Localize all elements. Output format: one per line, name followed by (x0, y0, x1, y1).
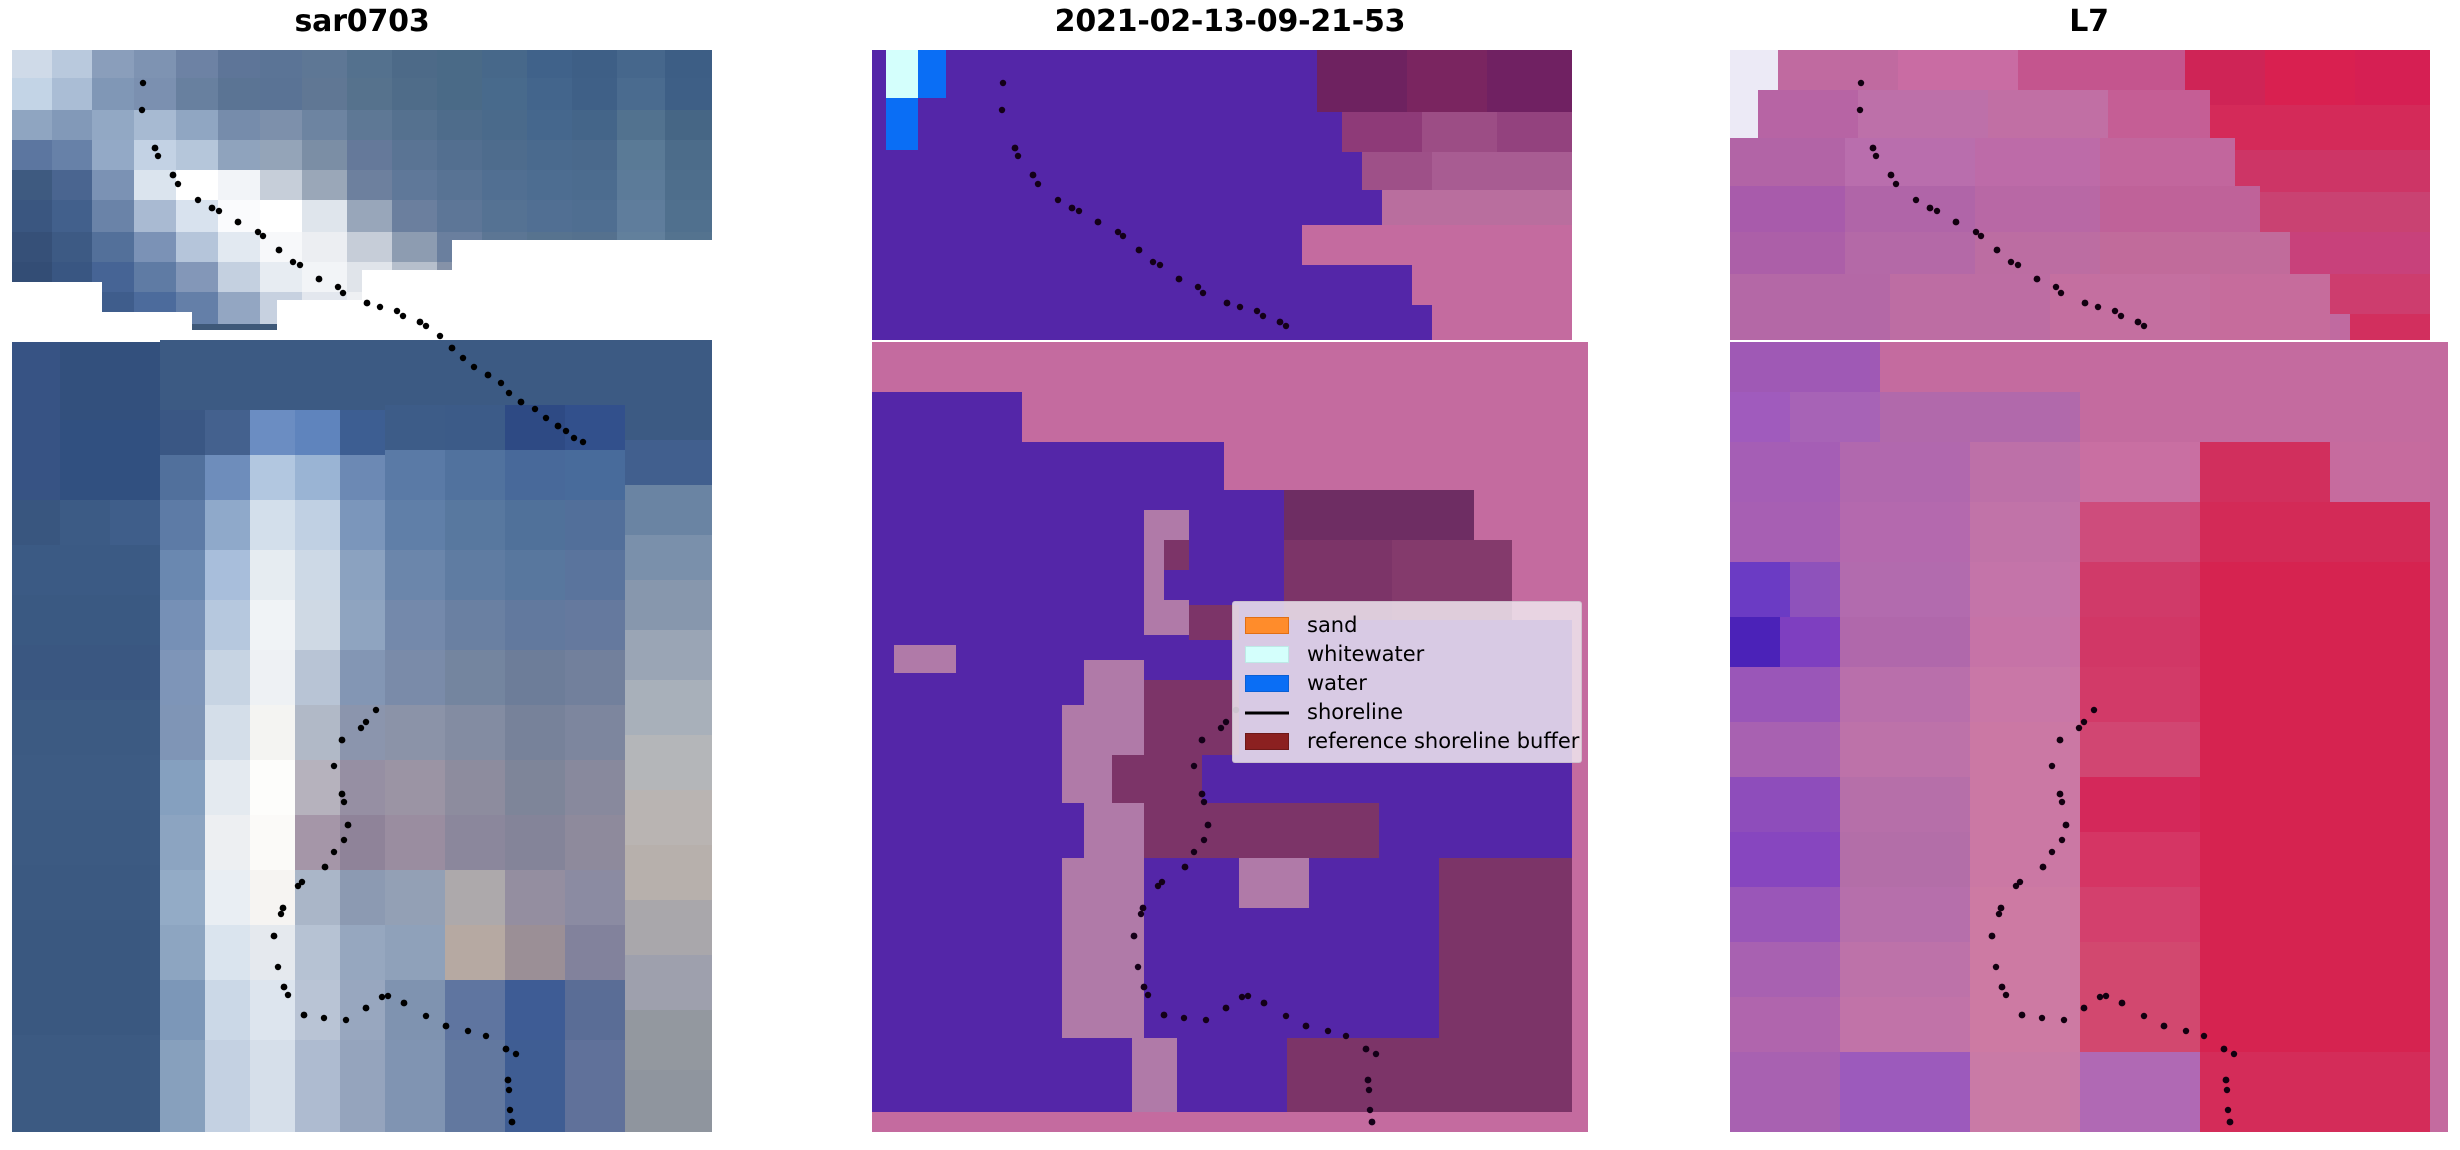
reference-buffer-swatch-icon (1245, 733, 1289, 750)
legend-label-shoreline: shoreline (1307, 702, 1403, 723)
legend-row-reference-buffer: reference shoreline buffer (1245, 727, 1571, 756)
image-axes-classified[interactable] (872, 50, 1588, 1132)
water-swatch-icon (1245, 675, 1289, 692)
legend-label-reference-buffer: reference shoreline buffer (1307, 731, 1579, 752)
sar0703-raster (12, 50, 712, 1132)
legend-row-sand: sand (1245, 611, 1571, 640)
panel-l7: L7 (1730, 0, 2448, 1150)
legend-row-whitewater: whitewater (1245, 640, 1571, 669)
image-axes-sar0703[interactable] (12, 50, 712, 1132)
image-axes-l7[interactable] (1730, 50, 2448, 1132)
figure-canvas: sar0703 (0, 0, 2460, 1150)
panel-classified: 2021-02-13-09-21-53 (872, 0, 1588, 1150)
panel-title-l7: L7 (1730, 4, 2448, 39)
legend-row-water: water (1245, 669, 1571, 698)
shoreline-line-icon (1245, 704, 1289, 721)
legend[interactable]: sand whitewater water shoreline referenc… (1232, 601, 1582, 763)
legend-label-whitewater: whitewater (1307, 644, 1424, 665)
panel-sar0703: sar0703 (12, 0, 712, 1150)
legend-row-shoreline: shoreline (1245, 698, 1571, 727)
l7-raster (1730, 50, 2448, 1132)
legend-label-sand: sand (1307, 615, 1357, 636)
panel-title-sar0703: sar0703 (12, 4, 712, 39)
whitewater-swatch-icon (1245, 646, 1289, 663)
classified-raster (872, 50, 1588, 1132)
legend-label-water: water (1307, 673, 1367, 694)
panel-title-classified: 2021-02-13-09-21-53 (872, 4, 1588, 39)
sand-swatch-icon (1245, 617, 1289, 634)
